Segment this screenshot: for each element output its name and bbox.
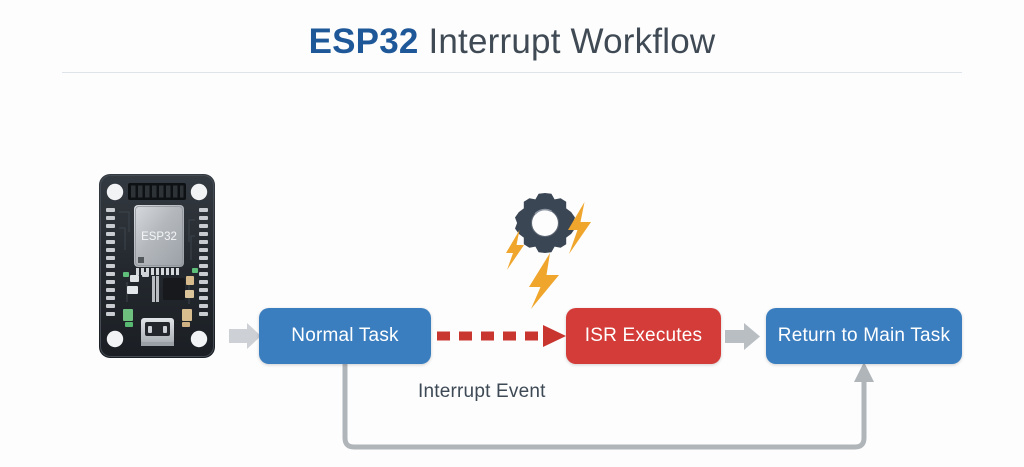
- flow-node-return-to-main-task[interactable]: Return to Main Task: [766, 308, 962, 364]
- usb-connector: [141, 318, 174, 346]
- esp32-board-svg: ESP32: [97, 172, 217, 360]
- connector-board-to-normal-task: [229, 323, 261, 349]
- edge-label-interrupt-event: Interrupt Event: [418, 381, 546, 403]
- interrupt-icon-svg: [498, 190, 603, 310]
- flow-node-isr-executes-label: ISR Executes: [585, 325, 703, 347]
- interrupt-icon-group: [498, 190, 603, 310]
- flow-node-normal-task[interactable]: Normal Task: [259, 308, 431, 364]
- lightning-bolt-icon-left: [506, 230, 524, 270]
- connector-isr-to-return: [725, 323, 760, 350]
- page-title-rest: Interrupt Workflow: [419, 22, 716, 61]
- page-title-accent: ESP32: [309, 22, 419, 61]
- diagram-canvas: ESP32 Interrupt Workflow: [0, 0, 1024, 467]
- flow-node-return-to-main-task-label: Return to Main Task: [778, 325, 950, 347]
- mounting-hole-tr: [191, 184, 207, 200]
- flow-node-isr-executes[interactable]: ISR Executes: [566, 308, 721, 364]
- connector-loop-normal-task-to-return: [345, 362, 874, 447]
- page-title: ESP32 Interrupt Workflow: [0, 22, 1024, 62]
- mounting-hole-bl: [107, 331, 123, 347]
- lightning-bolt-icon-bottom: [529, 253, 559, 309]
- esp32-shield-label: ESP32: [141, 231, 177, 243]
- title-divider: [62, 72, 962, 73]
- shield-corner-mark: [138, 257, 144, 263]
- flow-node-normal-task-label: Normal Task: [291, 325, 398, 347]
- board-top-connector: [128, 183, 186, 200]
- gear-icon: [515, 193, 575, 253]
- mounting-hole-tl: [107, 184, 123, 200]
- esp32-dev-board: ESP32: [97, 172, 217, 360]
- lightning-bolt-icon-right: [568, 202, 591, 254]
- mounting-hole-br: [191, 331, 207, 347]
- connector-normal-task-to-isr: [437, 325, 566, 347]
